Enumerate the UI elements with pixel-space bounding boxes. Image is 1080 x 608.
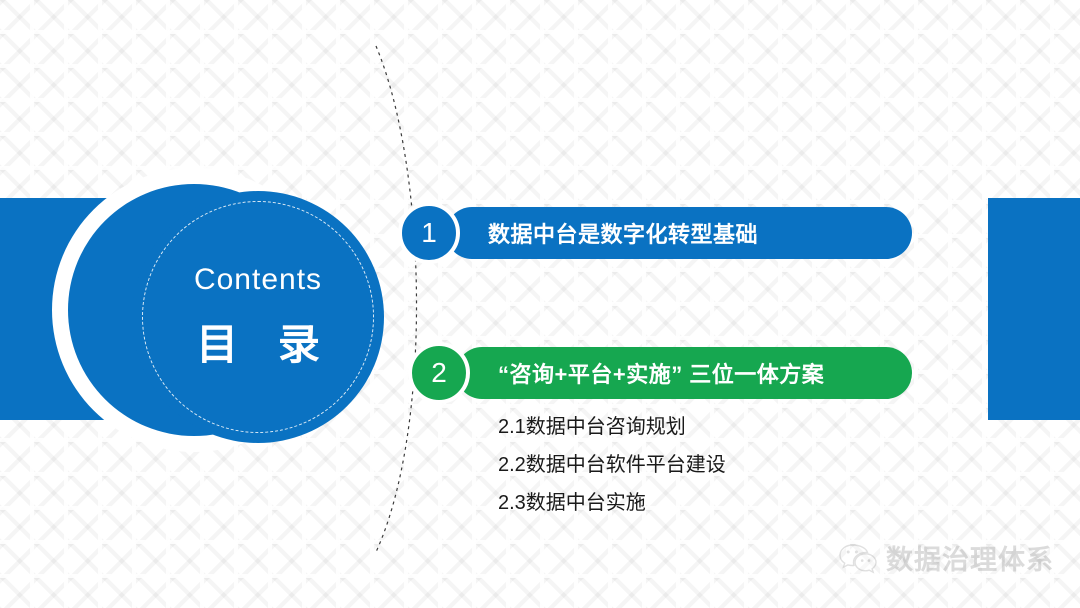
watermark-text: 数据治理体系	[886, 538, 1054, 577]
agenda-bar-2[interactable]: “咨询+平台+实施” 三位一体方案	[456, 347, 912, 399]
agenda-label-2: “咨询+平台+实施” 三位一体方案	[498, 357, 824, 389]
agenda-sub-item[interactable]: 2.3数据中台实施	[498, 484, 918, 522]
agenda-label-1: 数据中台是数字化转型基础	[488, 217, 758, 249]
agenda-number-1: 1	[421, 217, 437, 249]
agenda-sub-item[interactable]: 2.2数据中台软件平台建设	[498, 446, 918, 484]
agenda-number-badge-1: 1	[398, 202, 460, 264]
contents-title-cn: 目 录	[182, 311, 334, 372]
watermark: 数据治理体系	[838, 538, 1054, 577]
agenda-item-2[interactable]: “咨询+平台+实施” 三位一体方案 2	[408, 347, 912, 399]
agenda-sub-item-list: 2.1数据中台咨询规划 2.2数据中台软件平台建设 2.3数据中台实施	[498, 408, 918, 522]
wechat-icon	[838, 542, 878, 574]
contents-circle: Contents 目 录	[132, 191, 384, 443]
presentation-slide: Contents 目 录 数据中台是数字化转型基础 1 “咨询+平台+实施” 三…	[0, 0, 1080, 608]
agenda-sub-item[interactable]: 2.1数据中台咨询规划	[498, 408, 918, 446]
agenda-bar-1[interactable]: 数据中台是数字化转型基础	[446, 207, 912, 259]
agenda-number-2: 2	[431, 357, 447, 389]
right-decorative-block	[988, 198, 1080, 420]
contents-title-en: Contents	[194, 263, 322, 297]
agenda-item-1[interactable]: 数据中台是数字化转型基础 1	[398, 207, 912, 259]
agenda-number-badge-2: 2	[408, 342, 470, 404]
